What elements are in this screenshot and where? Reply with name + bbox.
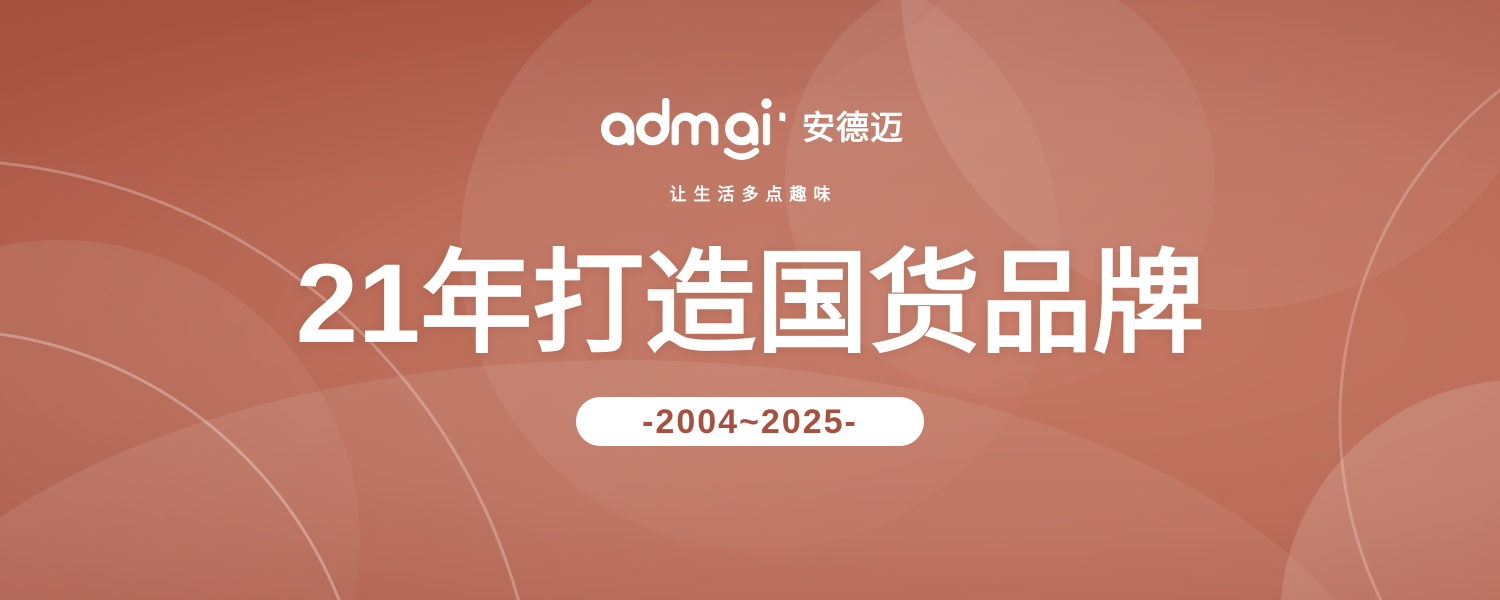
admair-wordmark [596, 98, 786, 162]
admair-wordmark-cn: 安德迈 [802, 111, 904, 144]
brand-tagline: 让生活多点趣味 [663, 186, 838, 203]
headline: 21年打造国货品牌 [296, 247, 1205, 361]
promo-banner: 安德迈 让生活多点趣味 21年打造国货品牌 -2004~2025- [0, 0, 1500, 600]
smile-curve-icon [727, 151, 756, 157]
year-range-badge: -2004~2025- [576, 397, 924, 446]
admair-wordmark-glyphs [596, 98, 786, 162]
banner-content: 安德迈 让生活多点趣味 21年打造国货品牌 -2004~2025- [0, 0, 1500, 600]
brand-logo: 安德迈 [596, 100, 904, 160]
